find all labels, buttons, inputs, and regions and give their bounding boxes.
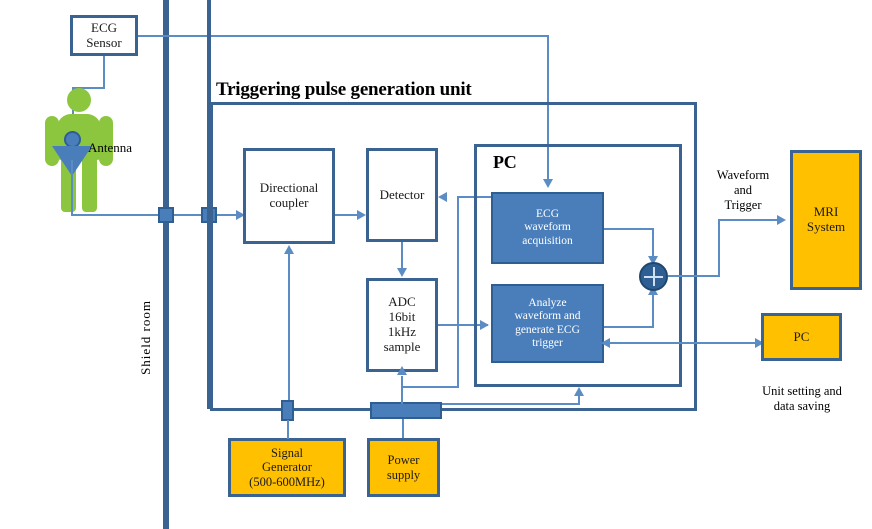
power-supply-label-line2: supply [387,468,420,482]
analyze-label-line3: generate ECG [515,324,580,337]
power-bus-bar [370,402,442,419]
wire-signal-generator-up [287,420,289,439]
wire-analyze-to-external-pc-h1 [604,342,708,344]
wire-ecg-sensor-right [138,35,548,37]
waveform-and-trigger-label: Waveform and Trigger [700,168,786,213]
unit-setting-label: Unit setting and data saving [740,384,864,414]
power-supply-box: Power supply [367,438,440,497]
mri-system-label-line1: MRI [814,205,839,220]
unit-setting-line2: data saving [740,399,864,414]
sum-cross-v [653,267,655,286]
detector-box: Detector [366,148,438,242]
signal-generator-label-line1: Signal [271,446,303,460]
wire-ecg-sensor-to-person-v1 [103,56,105,88]
arrowhead-analyze-left-in [601,338,610,348]
external-pc-label: PC [794,330,810,345]
analyze-label-line2: waveform and [514,310,580,323]
wire-coupler-to-detector [335,214,359,216]
ecg-acquisition-label-line3: acquisition [522,235,572,248]
wire-analyze-to-sum-v [652,294,654,327]
power-supply-label-line1: Power [388,453,420,467]
antenna-label: Antenna [88,140,158,156]
wire-sum-out-v [718,219,720,276]
triggering-unit-title: Triggering pulse generation unit [216,79,472,101]
signal-generator-label-line2: Generator [262,460,312,474]
arrowhead-to-adc-bottom [397,366,407,375]
analyze-waveform-box: Analyze waveform and generate ECG trigge… [491,284,604,363]
wire-antenna-down [71,160,73,215]
adc-label-line1: ADC [388,295,415,310]
ecg-acquisition-label-line1: ECG [536,208,559,221]
wire-detector-to-adc [401,242,403,270]
wire-acquisition-to-sum-h [604,228,654,230]
adc-box: ADC 16bit 1kHz sample [366,278,438,372]
signal-generator-connector [281,400,294,421]
ecg-sensor-label-line2: Sensor [86,36,121,51]
external-pc-box: PC [761,313,842,361]
wire-sum-out-h1 [668,275,720,277]
shield-wall-connector-1 [158,207,174,223]
arrowhead-to-detector [357,210,366,220]
signal-generator-label-line3: (500-600MHz) [249,475,325,489]
mri-system-label-line2: System [807,220,845,235]
wire-siggen-to-coupler [288,253,290,409]
waveform-and-trigger-line2: and [700,183,786,198]
adc-label-line3: 1kHz [388,325,416,340]
wire-analyze-loop-bottom [401,386,459,388]
analyze-label-line1: Analyze [528,297,566,310]
wire-analyze-to-detector-v [457,196,459,387]
ecg-waveform-acquisition-box: ECG waveform acquisition [491,192,604,264]
ecg-sensor-label-line1: ECG [91,21,117,36]
arrowhead-to-coupler-bottom [284,245,294,254]
directional-coupler-label-line1: Directional [260,181,318,196]
wire-sum-out-to-mri [718,219,780,221]
pc-group-label: PC [493,152,517,173]
arrowhead-to-adc [397,268,407,277]
wire-analyze-to-sum-h [604,326,654,328]
ecg-sensor-box: ECG Sensor [70,15,138,56]
waveform-and-trigger-line3: Trigger [700,198,786,213]
adc-label-line2: 16bit [389,310,416,325]
wire-analyze-to-external-pc-h2 [697,342,759,344]
summing-junction [639,262,668,291]
detector-label: Detector [380,188,425,203]
wire-power-supply-up [402,419,404,439]
analyze-label-line4: trigger [532,337,563,350]
shield-room-boundary [163,0,169,529]
ecg-acquisition-label-line2: waveform [524,221,571,234]
waveform-and-trigger-line1: Waveform [700,168,786,183]
unit-setting-line1: Unit setting and [740,384,864,399]
diagram-canvas: Shield room ECG Sensor Antenna Triggerin… [0,0,872,529]
wire-bus-to-pc-h2 [442,403,580,405]
shield-room-label: Shield room [138,300,154,375]
arrowhead-to-detector-right [438,192,447,202]
directional-coupler-label-line2: coupler [270,196,309,211]
signal-generator-box: Signal Generator (500-600MHz) [228,438,346,497]
directional-coupler-box: Directional coupler [243,148,335,244]
arrowhead-bus-to-pc [574,387,584,396]
arrowhead-to-mri-system [777,215,786,225]
person-head [67,88,91,112]
wire-bus-to-adc [401,376,403,404]
adc-label-line4: sample [384,340,421,355]
mri-system-box: MRI System [790,150,862,290]
